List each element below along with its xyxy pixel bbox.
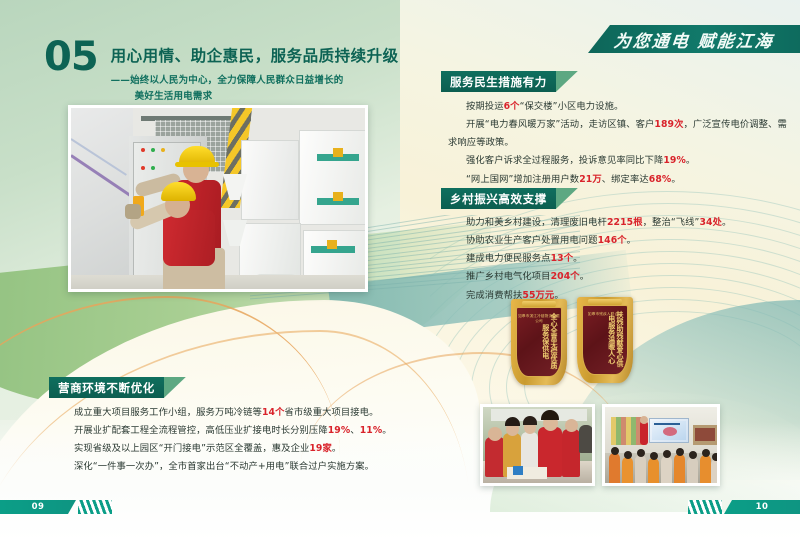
highlighted-metric: 34处 [699, 217, 722, 228]
photo-person-red-vest [562, 429, 580, 477]
body-text-run: 推广乡村电气化项目 [466, 271, 551, 282]
body-text-run: 省市级重大项目接电。 [285, 407, 379, 418]
photo-screen-title [654, 423, 680, 425]
photo-blue-box [513, 466, 523, 475]
page-number-right-value: 10 [756, 502, 769, 512]
photo-person-red-vest [485, 437, 505, 477]
photo-yellow-label [333, 192, 343, 201]
body-text-run: 成立重大项目服务工作小组，服务万吨冷链等 [74, 407, 262, 418]
award-plaques-group: 如皋市滨江冷链物流有限公司 全心全意无偿优质服务保供电 二〇二三年十二月 如皋市… [505, 297, 675, 385]
main-photo-electrical-inspection [68, 105, 368, 292]
photo-person-hair [505, 417, 520, 426]
photo-worker-crouching-vest [163, 210, 215, 266]
section-heading: 05 用心用情、助企惠民，服务品质持续升级 ——始终以人民为中心，全力保障人民群… [44, 40, 399, 104]
body-text-run: 、绑定率达 [602, 174, 649, 185]
body-paragraph: 开展“电力春风暖万家”活动，走访区镇、客户189次，广泛宣传电价调整、需求响应等… [448, 116, 788, 152]
photo-student-head [676, 448, 684, 456]
page-number-left: 09 [0, 500, 112, 514]
body-text-run: 实现省级及以上园区“开门接电”示范区全覆盖，惠及企业 [74, 443, 309, 454]
highlighted-metric: 11% [360, 425, 383, 436]
highlighted-metric: 146个 [598, 235, 627, 246]
body-text-run: 按期投运 [466, 101, 504, 112]
highlighted-metric: 19% [328, 425, 351, 436]
chevron-right-icon [556, 188, 578, 209]
body-paragraph: 按期投运6个“保交楼”小区电力设施。 [448, 98, 788, 116]
highlighted-metric: 6个 [504, 101, 520, 112]
section-body-minsheng: 按期投运6个“保交楼”小区电力设施。开展“电力春风暖万家”活动，走访区镇、客户1… [448, 98, 788, 189]
plaque-face: 如皋市残疾人联合会 扶残助残献爱心供电服务温暖人心 二〇二三年十二月 [582, 305, 628, 375]
photo-work-glove [125, 204, 141, 219]
highlighted-metric: 14个 [262, 407, 285, 418]
highlighted-metric: 19家 [309, 443, 332, 454]
body-paragraph: 助力和美乡村建设，清理废旧电杆2215根，整治“飞线”34处。 [448, 214, 788, 232]
photo-student [648, 458, 659, 483]
photo-equipment [579, 425, 593, 453]
photo-student-head [624, 451, 632, 459]
section-body-yingshang: 成立重大项目服务工作小组，服务万吨冷链等14个省市级重大项目接电。开展业扩配套工… [56, 404, 400, 477]
body-paragraph: 开展业扩配套工程全流程管控，高低压业扩接电时长分别压降19%、11%。 [56, 422, 400, 440]
page-subtitle-line2: 美好生活用电需求 [111, 89, 399, 105]
plaque-date: 二〇二三年十二月 [618, 340, 622, 367]
photo-hardhat-brim [175, 162, 219, 167]
body-text-run: “保交楼”小区电力设施。 [520, 101, 624, 112]
award-plaque: 如皋市滨江冷链物流有限公司 全心全意无偿优质服务保供电 二〇二三年十二月 [511, 299, 567, 385]
chevron-right-icon [164, 377, 186, 398]
body-text-run: 助力和美乡村建设，清理废旧电杆 [466, 217, 607, 228]
photo-person-head [488, 427, 502, 441]
body-text-run: 。 [722, 217, 731, 228]
body-text-run: 。 [332, 443, 341, 454]
highlighted-metric: 189次 [654, 119, 683, 130]
photo-student [700, 455, 711, 483]
photo-school-safety-lecture [602, 404, 720, 486]
photo-student-head [689, 451, 697, 459]
body-text-run: 深化“一件事一次办”，全市首家出台“不动产+用电”联合过户实施方案。 [74, 461, 374, 472]
photo-student-head [650, 452, 658, 460]
body-paragraph: 实现省级及以上园区“开门接电”示范区全覆盖，惠及企业19家。 [56, 440, 400, 458]
body-paragraph: 强化客户诉求全过程服务，投诉意见率同比下降19%。 [448, 152, 788, 170]
hatch-decoration [688, 500, 722, 514]
award-plaque: 如皋市残疾人联合会 扶残助残献爱心供电服务温暖人心 二〇二三年十二月 [577, 297, 633, 383]
body-paragraph: 深化“一件事一次办”，全市首家出台“不动产+用电”联合过户实施方案。 [56, 458, 400, 476]
body-text-run: 。 [580, 271, 589, 282]
photo-display-board [611, 417, 643, 445]
highlighted-metric: 21万 [579, 174, 602, 185]
body-text-run: 开展业扩配套工程全流程管控，高低压业扩接电时长分别压降 [74, 425, 328, 436]
photo-screen-graphic [663, 427, 677, 436]
plaque-date: 二〇二三年十二月 [552, 342, 556, 369]
photo-student-head [663, 450, 671, 458]
photo-student-head [611, 447, 619, 455]
body-text-run: “网上国网”增加注册用户数 [466, 174, 579, 185]
page-number-right: 10 [688, 500, 800, 514]
body-text-run: 开展“电力春风暖万家”活动，走访区镇、客户 [466, 119, 654, 130]
page-subtitle: ——始终以人民为中心，全力保障人民群众日益增长的 美好生活用电需求 [111, 73, 399, 104]
photo-volunteer-service-event [480, 404, 595, 486]
slogan-text: 为您通电 赋能江海 [613, 27, 776, 52]
photo-person-hair [523, 416, 537, 425]
highlighted-metric: 13个 [551, 253, 574, 264]
body-text-run: 。 [686, 155, 695, 166]
photo-indicator-led [151, 148, 155, 152]
photo-presenter-head [640, 416, 648, 424]
section-number: 05 [44, 40, 98, 104]
section-body-xiangcun: 助力和美乡村建设，清理废旧电杆2215根，整治“飞线”34处。协助农业生产客户处… [448, 214, 788, 305]
body-text-run: 建成电力便民服务点 [466, 253, 551, 264]
highlighted-metric: 19% [663, 155, 686, 166]
body-paragraph: “网上国网”增加注册用户数21万、绑定率达68%。 [448, 171, 788, 189]
photo-student-head [712, 453, 720, 461]
photo-indicator-led [151, 166, 155, 170]
body-paragraph: 推广乡村电气化项目204个。 [448, 268, 788, 286]
page-number-left-value: 09 [32, 502, 45, 512]
body-text-run: 。 [382, 425, 391, 436]
page-number-left-bar: 09 [0, 500, 76, 514]
photo-student-head [637, 449, 645, 457]
photo-yellow-label [333, 148, 343, 157]
photo-machine-unit [241, 140, 299, 220]
photo-student [609, 453, 620, 483]
page-title: 用心用情、助企惠民，服务品质持续升级 [111, 44, 399, 66]
body-text-run: 、 [350, 425, 359, 436]
photo-indicator-led [141, 148, 145, 152]
page-subtitle-line1: ——始终以人民为中心，全力保障人民群众日益增长的 [111, 73, 399, 89]
brochure-spread: 为您通电 赋能江海 05 用心用情、助企惠民，服务品质持续升级 ——始终以人民为… [0, 0, 800, 542]
photo-wall-picture [695, 428, 715, 441]
plaque-face: 如皋市滨江冷链物流有限公司 全心全意无偿优质服务保供电 二〇二三年十二月 [516, 307, 562, 377]
photo-student [622, 457, 633, 483]
body-paragraph: 建成电力便民服务点13个。 [448, 250, 788, 268]
body-text-run: 协助农业生产客户处置用电问题 [466, 235, 598, 246]
section-header-minsheng: 服务民生措施有力 [441, 71, 578, 92]
body-text-run: 强化客户诉求全过程服务，投诉意见率同比下降 [466, 155, 663, 166]
section-header-yingshang: 营商环境不断优化 [49, 377, 186, 398]
photo-indicator-led [161, 148, 165, 152]
section-header-label: 服务民生措施有力 [441, 71, 556, 92]
slogan-banner: 为您通电 赋能江海 [588, 25, 800, 53]
photo-student [635, 455, 646, 483]
body-paragraph: 成立重大项目服务工作小组，服务万吨冷链等14个省市级重大项目接电。 [56, 404, 400, 422]
photo-student [661, 456, 672, 483]
photo-yellow-label [327, 240, 337, 249]
photo-student-head [702, 449, 710, 457]
body-text-run: 。 [627, 235, 636, 246]
photo-student [674, 454, 685, 483]
highlighted-metric: 204个 [551, 271, 580, 282]
photo-control-wall [71, 108, 133, 289]
body-paragraph: 协助农业生产客户处置用电问题146个。 [448, 232, 788, 250]
photo-student [687, 457, 698, 483]
photo-machine-unit [299, 130, 368, 225]
hatch-decoration [78, 500, 112, 514]
body-text-run: 。 [573, 253, 582, 264]
highlighted-metric: 2215根 [607, 217, 643, 228]
chevron-right-icon [556, 71, 578, 92]
photo-person-head [565, 419, 578, 432]
photo-student [711, 459, 720, 483]
section-header-label: 乡村振兴高效支撑 [441, 188, 556, 209]
section-header-xiangcun: 乡村振兴高效支撑 [441, 188, 578, 209]
section-header-label: 营商环境不断优化 [49, 377, 164, 398]
page-number-right-bar: 10 [724, 500, 800, 514]
body-text-run: 。 [671, 174, 680, 185]
body-text-run: ，整治“飞线” [643, 217, 700, 228]
photo-indicator-led [141, 166, 145, 170]
photo-presenter-red-uniform [640, 421, 648, 445]
highlighted-metric: 68% [649, 174, 672, 185]
